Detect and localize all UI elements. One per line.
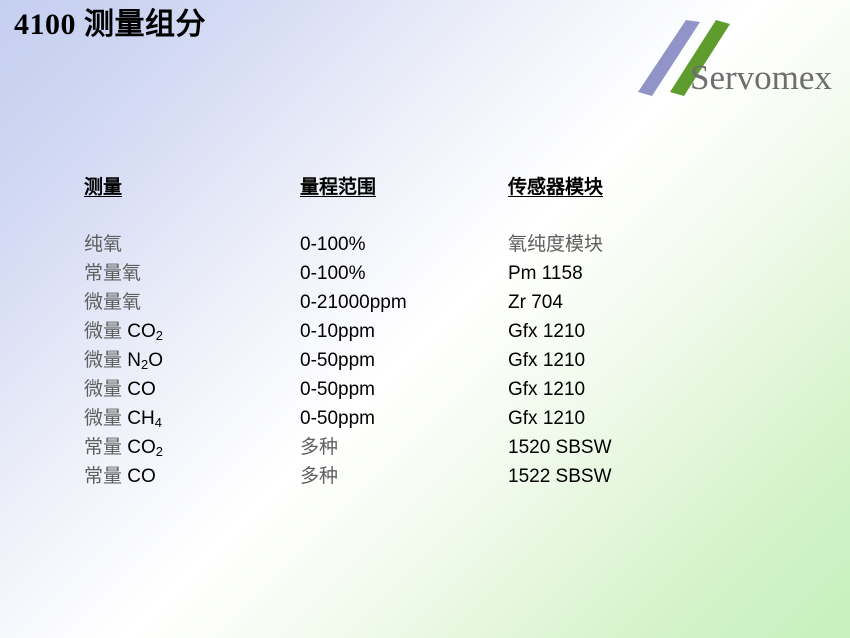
range-value: 多种 xyxy=(300,433,500,462)
measure-label-cjk: 微量 xyxy=(84,408,122,429)
measure-label-cjk: 微量氧 xyxy=(84,292,141,313)
table-row: 常量 CO xyxy=(84,462,294,491)
formula-subscript: 2 xyxy=(141,357,148,372)
module-value: Gfx 1210 xyxy=(508,346,808,375)
column-header-range: 量程范围 xyxy=(300,175,500,201)
formula-subscript: 2 xyxy=(156,444,163,459)
range-value: 0-21000ppm xyxy=(300,288,500,317)
module-value: Gfx 1210 xyxy=(508,375,808,404)
measure-label-formula: N2O xyxy=(122,350,163,371)
measure-label-cjk: 常量 xyxy=(84,466,122,487)
column-range-cells: 0-100%0-100%0-21000ppm0-10ppm0-50ppm0-50… xyxy=(300,230,500,491)
module-value: Zr 704 xyxy=(508,288,808,317)
measure-label-cjk: 微量 xyxy=(84,379,122,400)
measure-label-cjk: 常量 xyxy=(84,437,122,458)
table-row: 微量 CO xyxy=(84,375,294,404)
table-row: 纯氧 xyxy=(84,230,294,259)
range-value: 0-50ppm xyxy=(300,404,500,433)
measure-label-cjk: 纯氧 xyxy=(84,234,122,255)
formula-subscript: 2 xyxy=(156,328,163,343)
measure-label-formula: CO xyxy=(122,379,156,400)
column-measure-cells: 纯氧常量氧微量氧微量 CO2微量 N2O微量 CO微量 CH4常量 CO2常量 … xyxy=(84,230,294,491)
table-row: 微量 N2O xyxy=(84,346,294,375)
range-value: 0-100% xyxy=(300,230,500,259)
table-row: 微量 CH4 xyxy=(84,404,294,433)
measure-label-formula: CO2 xyxy=(122,437,163,458)
table-row: 常量 CO2 xyxy=(84,433,294,462)
table-row: 微量氧 xyxy=(84,288,294,317)
formula-subscript: 4 xyxy=(155,415,162,430)
slide-canvas: 4100 测量组分 Servomex 测量 量程范围 传感器模块 纯氧常量氧微量… xyxy=(0,0,850,638)
module-value: 1522 SBSW xyxy=(508,462,808,491)
module-value: Gfx 1210 xyxy=(508,404,808,433)
measure-label-cjk: 微量 xyxy=(84,350,122,371)
column-header-module: 传感器模块 xyxy=(508,175,808,201)
module-value: Gfx 1210 xyxy=(508,317,808,346)
column-module-cells: 氧纯度模块Pm 1158Zr 704Gfx 1210Gfx 1210Gfx 12… xyxy=(508,230,808,491)
column-header-measure: 测量 xyxy=(84,175,294,201)
range-value: 0-100% xyxy=(300,259,500,288)
measure-label-formula: CO xyxy=(122,466,156,487)
measure-label-formula: CH4 xyxy=(122,408,162,429)
measurement-table: 测量 量程范围 传感器模块 纯氧常量氧微量氧微量 CO2微量 N2O微量 CO微… xyxy=(0,0,850,638)
range-value: 多种 xyxy=(300,462,500,491)
range-value: 0-50ppm xyxy=(300,375,500,404)
measure-label-cjk: 微量 xyxy=(84,321,122,342)
module-value: 氧纯度模块 xyxy=(508,230,808,259)
table-row: 微量 CO2 xyxy=(84,317,294,346)
module-value: 1520 SBSW xyxy=(508,433,808,462)
measure-label-cjk: 常量氧 xyxy=(84,263,141,284)
module-value: Pm 1158 xyxy=(508,259,808,288)
table-row: 常量氧 xyxy=(84,259,294,288)
range-value: 0-50ppm xyxy=(300,346,500,375)
measure-label-formula: CO2 xyxy=(122,321,163,342)
range-value: 0-10ppm xyxy=(300,317,500,346)
